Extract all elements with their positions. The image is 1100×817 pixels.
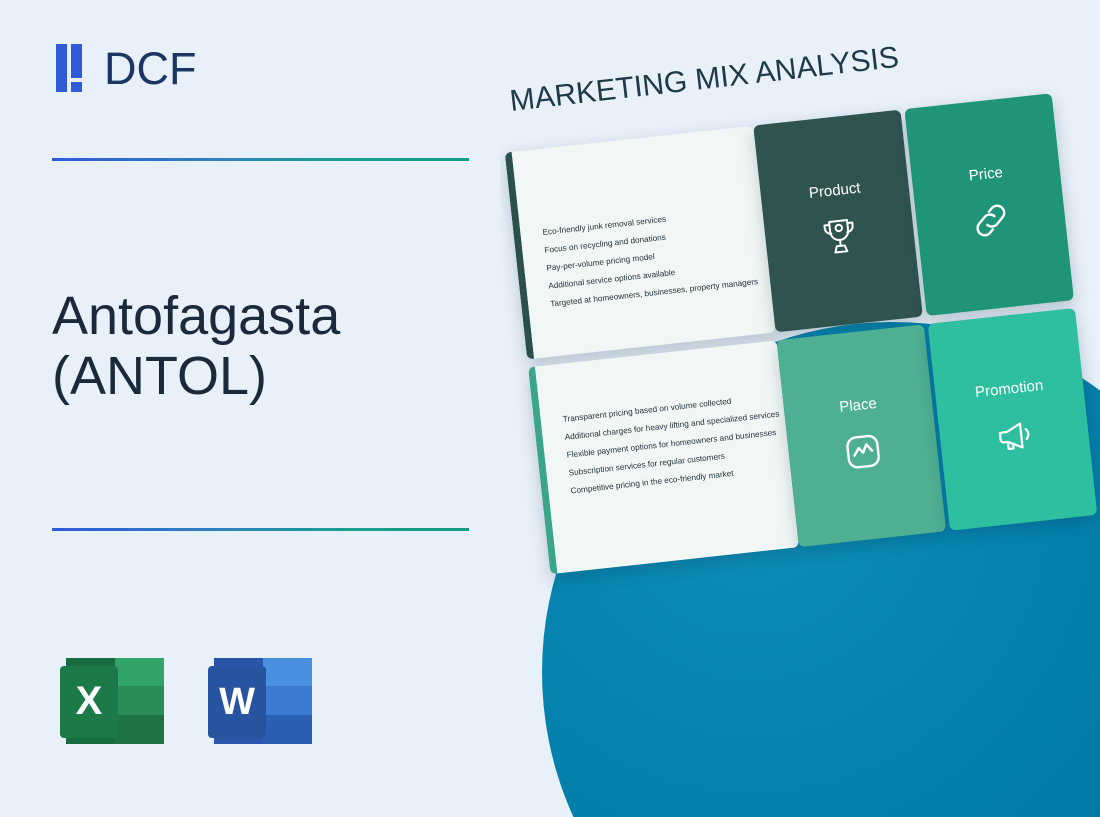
quadrant-grid: Eco-friendly junk removal services Focus… [500,65,1088,603]
word-letter: W [219,681,255,723]
brand-name: DCF [104,46,196,91]
activity-wave-icon [837,425,890,478]
divider-bottom [52,528,469,531]
quadrant-promotion-label-card: Promotion [928,308,1098,531]
link-icon [964,194,1017,247]
divider-top [52,158,469,161]
file-format-icons: X W [52,632,326,758]
page-title-line2: (ANTOL) [52,346,482,406]
brand-logo: DCF [52,42,196,94]
page-title: Antofagasta (ANTOL) [52,286,482,407]
quadrant-place-bullets: Transparent pricing based on volume coll… [528,340,799,574]
quadrant-promotion-label: Promotion [974,376,1044,400]
quadrant-price-label: Price [968,163,1004,184]
page-title-line1: Antofagasta [52,286,482,346]
dcf-bars-logo-icon [52,42,94,94]
trophy-icon [813,210,866,263]
marketing-mix-graphic: MARKETING MIX ANALYSIS Eco-friendly junk… [500,0,1100,817]
quadrant-place-label: Place [838,394,877,415]
quadrant-product-label: Product [808,179,861,201]
quadrant-product-bullets: Eco-friendly junk removal services Focus… [505,126,776,360]
megaphone-icon [988,408,1041,461]
excel-letter: X [76,679,103,723]
quadrant-place-label-card: Place [777,324,947,547]
quadrant-price-label-card: Price [904,93,1074,316]
word-file-icon[interactable]: W [200,632,326,758]
quadrant-product-label-card: Product [753,110,923,333]
left-info-panel: DCF Antofagasta (ANTOL) X [0,0,520,817]
excel-file-icon[interactable]: X [52,632,178,758]
